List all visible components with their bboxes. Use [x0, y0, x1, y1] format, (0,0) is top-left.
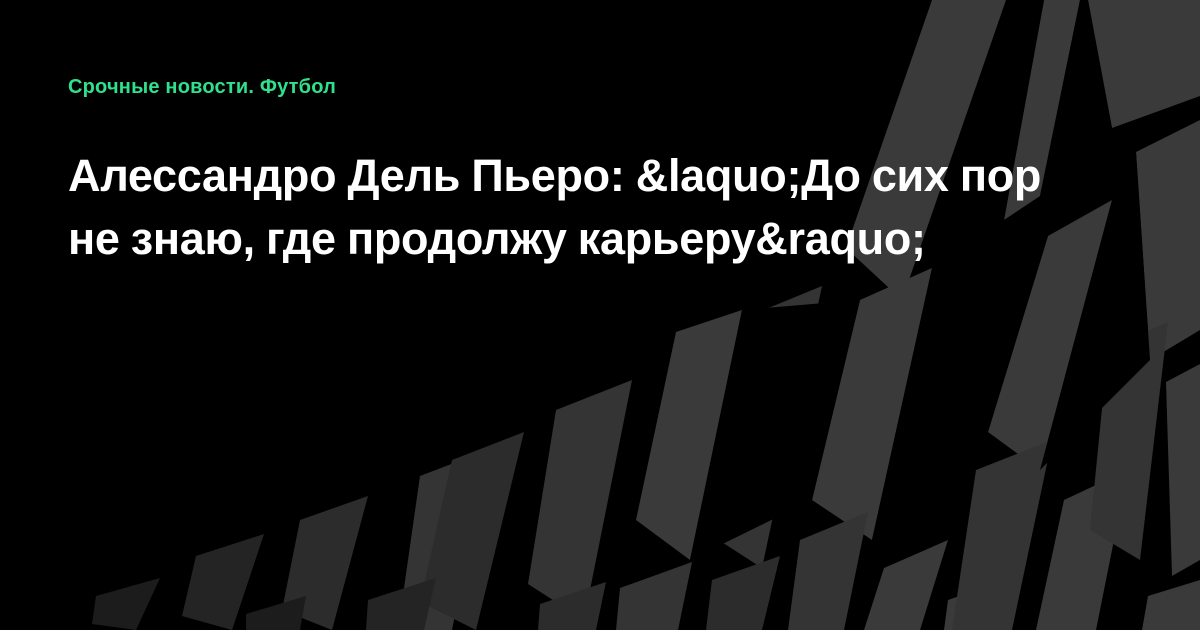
card-content: Срочные новости. Футбол Алессандро Дель … [0, 0, 1200, 270]
category-kicker: Срочные новости. Футбол [68, 74, 1132, 100]
news-share-card: Срочные новости. Футбол Алессандро Дель … [0, 0, 1200, 630]
page-title: Алессандро Дель Пьеро: &laquo;До сих пор… [68, 144, 1068, 270]
